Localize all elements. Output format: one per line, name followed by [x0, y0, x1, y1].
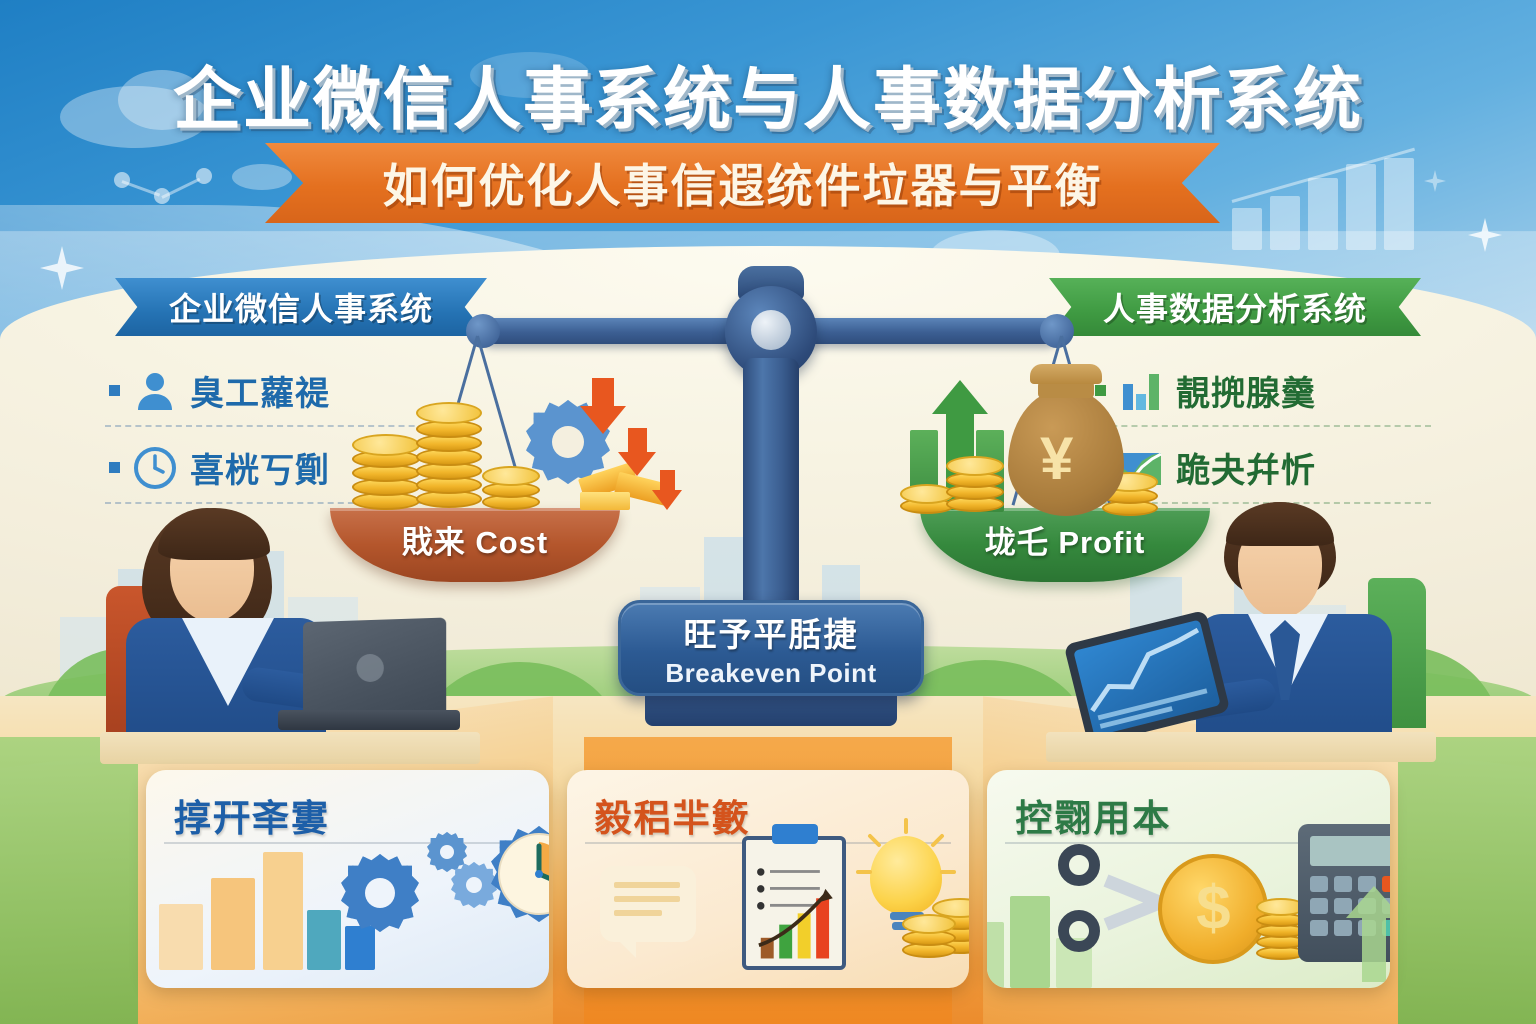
analyst-man-illustration — [1086, 498, 1416, 760]
ghost-bar-chart-decoration — [1232, 208, 1262, 250]
list-item[interactable]: 靚㨮腺羹 — [1091, 360, 1431, 427]
laptop-base — [278, 710, 460, 730]
feature-card-efficiency[interactable]: 㨃幵㪯寠 — [146, 770, 549, 988]
coin-stack — [416, 392, 482, 512]
desk-surface — [1046, 732, 1436, 762]
gear-icon — [427, 832, 467, 872]
bg-bar — [345, 926, 375, 970]
right-banner-label: 人事数据分析系统 — [1103, 284, 1367, 330]
money-bag-tie — [1030, 364, 1102, 384]
laptop-screen — [303, 617, 446, 716]
coin-stack — [482, 456, 540, 512]
bullet-marker — [109, 385, 120, 396]
balance-scale: 戝来 Cost — [430, 280, 1110, 750]
feature-card-data-insight[interactable]: 毅稆羋籔 — [567, 770, 970, 988]
gear-icon — [451, 862, 497, 908]
bg-bar — [159, 904, 203, 970]
network-node-decoration — [196, 168, 212, 184]
ghost-bar-chart-decoration — [1346, 164, 1376, 250]
dollar-coin-icon: $ — [1158, 854, 1268, 964]
feature-card-list: 㨃幵㪯寠 — [146, 770, 1390, 988]
card-artwork — [720, 818, 970, 988]
clipboard-clip — [772, 824, 818, 844]
coin-stack — [946, 452, 1004, 516]
ground-left-green-edge — [0, 737, 138, 1024]
bg-bar — [263, 852, 303, 970]
subtitle-text: 如何优化人事信遐统件垃器与平衡 — [383, 150, 1103, 216]
avatar-hair-fringe — [158, 508, 270, 560]
breakeven-plaque: 旺予平䏦捷 Breakeven Point — [618, 600, 924, 696]
left-banner-label: 企业微信人事系统 — [169, 284, 433, 330]
subtitle-ribbon: 如何优化人事信遐统件垃器与平衡 — [265, 143, 1220, 223]
user-icon — [132, 368, 178, 414]
breakeven-label-en: Breakeven Point — [665, 658, 876, 689]
ground-right-green-edge — [1398, 737, 1536, 1024]
bar-chart-icon — [1118, 368, 1164, 414]
bullet-marker — [109, 462, 120, 473]
scissors-icon — [1058, 844, 1100, 886]
coin-stack — [902, 908, 956, 964]
currency-symbol: ¥ — [1040, 424, 1073, 493]
up-arrow-decoration — [1344, 886, 1390, 982]
infographic-canvas: 企业微信人事系统与人事数据分析系统 如何优化人事信遐统件垃器与平衡 企业微信人事… — [0, 0, 1536, 1024]
breakeven-label-cn: 旺予平䏦捷 — [684, 608, 859, 656]
desk-surface — [100, 732, 480, 764]
list-item[interactable]: 臭工蘿禔 — [105, 360, 445, 427]
ghost-bar-chart-decoration — [1270, 196, 1300, 250]
feature-card-cost-control[interactable]: 控翾用本 $ — [987, 770, 1390, 988]
list-item-label: 跪夬幷忻 — [1176, 443, 1316, 492]
page-title: 企业微信人事系统与人事数据分析系统 — [0, 44, 1536, 143]
clock-icon — [497, 832, 549, 916]
list-item-label: 臭工蘿禔 — [190, 366, 330, 415]
hr-staff-woman-illustration — [120, 500, 450, 760]
ghost-bar-chart-decoration — [1308, 178, 1338, 250]
bg-bar — [1010, 896, 1050, 988]
list-item-label: 靚㨮腺羹 — [1176, 366, 1316, 415]
card-artwork: $ — [1140, 818, 1390, 988]
clock-icon — [132, 445, 178, 491]
bg-bar — [307, 910, 341, 970]
gear-icon — [341, 854, 419, 932]
gold-bar — [580, 492, 630, 510]
cloud-decoration — [232, 164, 292, 190]
chat-bubble-icon — [600, 866, 696, 942]
card-artwork — [299, 818, 549, 988]
ghost-bar-chart-decoration — [1384, 158, 1414, 250]
scissors-icon — [1058, 910, 1100, 952]
avatar-hair-fringe — [1226, 502, 1334, 546]
bg-bar — [987, 922, 1004, 988]
list-item-label: 喜桄丂劕 — [190, 443, 330, 492]
clipboard-icon — [742, 836, 846, 970]
bg-bar — [211, 878, 255, 970]
